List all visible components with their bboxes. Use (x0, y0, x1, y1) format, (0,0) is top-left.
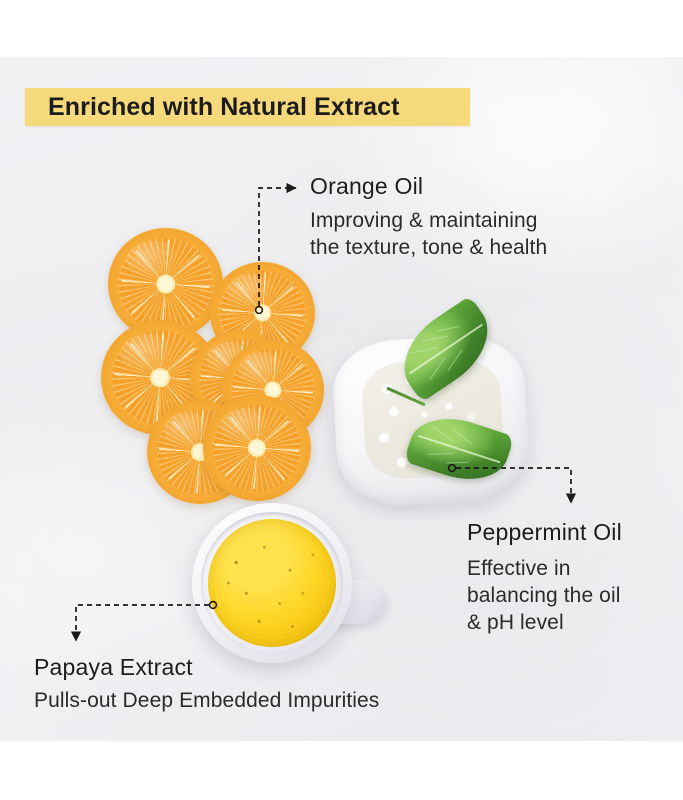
leaf-vein (409, 347, 437, 354)
callout-body-line: Effective in (467, 555, 622, 582)
leaf-midrib (418, 435, 501, 464)
leaf-vein (447, 462, 469, 464)
callout-peppermint-oil: Peppermint Oil Effective in balancing th… (467, 518, 622, 636)
leaf-vein (432, 425, 453, 441)
slice-gloss (120, 334, 174, 373)
callout-body-line: & pH level (467, 609, 622, 636)
leaf-vein (423, 336, 449, 342)
leaf-vein (437, 326, 459, 332)
callout-heading-peppermint-oil: Peppermint Oil (467, 518, 622, 546)
mug-body (192, 503, 352, 663)
leaf-vein (453, 430, 472, 445)
callout-body-papaya-extract: Pulls-out Deep Embedded Impurities (34, 687, 379, 714)
slice-gloss (227, 274, 275, 309)
slice-gloss (126, 241, 179, 279)
leaf-vein (447, 349, 462, 371)
liquid-specks (208, 519, 336, 647)
callout-heading-papaya-extract: Papaya Extract (34, 653, 379, 681)
callout-heading-orange-oil: Orange Oil (310, 172, 547, 200)
leaf-vein (429, 357, 445, 381)
callout-body-line: Improving & maintaining (310, 207, 547, 234)
slice-gloss (238, 352, 285, 386)
callout-body-line: Pulls-out Deep Embedded Impurities (34, 687, 379, 714)
page-title: Enriched with Natural Extract (48, 89, 468, 125)
mug-rim (201, 512, 343, 654)
callout-body-line: the texture, tone & health (310, 234, 547, 261)
callout-orange-oil: Orange Oil Improving & maintaining the t… (310, 172, 547, 261)
callout-body-peppermint-oil: Effective in balancing the oil & pH leve… (467, 555, 622, 636)
leaf-vein (427, 453, 452, 455)
callout-body-orange-oil: Improving & maintaining the texture, ton… (310, 207, 547, 261)
slice-gloss (220, 408, 270, 444)
callout-body-line: balancing the oil (467, 582, 622, 609)
orange-slice (203, 395, 311, 501)
mug-liquid (208, 519, 336, 647)
callout-papaya-extract: Papaya Extract Pulls-out Deep Embedded I… (34, 653, 379, 714)
infographic-canvas: Enriched with Natural Extract Ora (0, 0, 683, 800)
